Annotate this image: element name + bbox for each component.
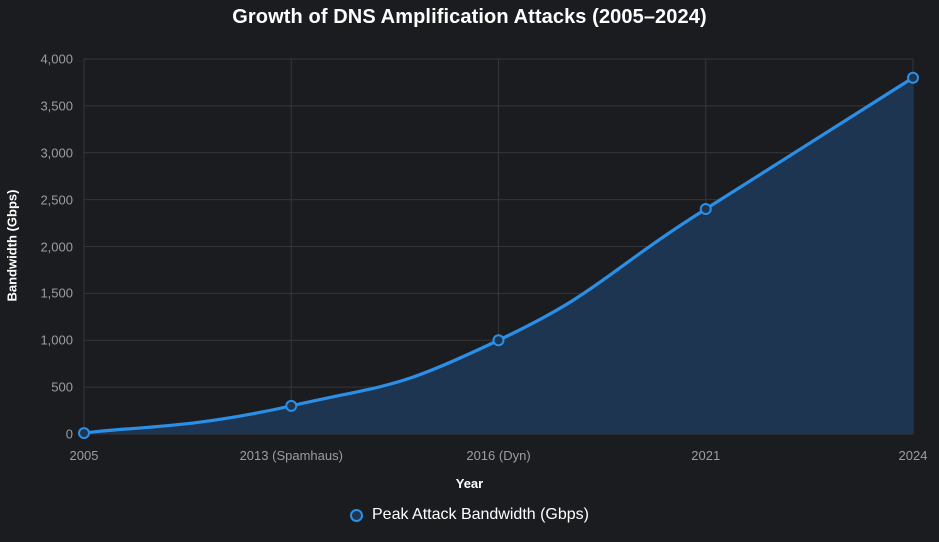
legend-item-label: Peak Attack Bandwidth (Gbps) — [372, 506, 589, 524]
data-point-marker[interactable] — [494, 335, 504, 345]
x-axis-tick-label: 2021 — [691, 448, 720, 463]
y-axis-tick-label: 1,000 — [0, 333, 73, 348]
data-point-marker[interactable] — [701, 204, 711, 214]
data-point-marker[interactable] — [908, 73, 918, 83]
y-axis-title: Bandwidth (Gbps) — [5, 176, 20, 316]
y-axis-tick-label: 0 — [0, 427, 73, 442]
data-point-marker[interactable] — [286, 401, 296, 411]
x-axis-tick-label: 2016 (Dyn) — [466, 448, 530, 463]
y-axis-tick-label: 3,000 — [0, 145, 73, 160]
data-point-marker[interactable] — [79, 428, 89, 438]
y-axis-tick-label: 3,500 — [0, 98, 73, 113]
x-axis-tick-label: 2024 — [899, 448, 928, 463]
x-axis-title: Year — [0, 476, 939, 491]
chart-legend: Peak Attack Bandwidth (Gbps) — [0, 506, 939, 524]
x-axis-tick-label: 2005 — [70, 448, 99, 463]
y-axis-tick-label: 500 — [0, 380, 73, 395]
chart-container: Growth of DNS Amplification Attacks (200… — [0, 0, 939, 542]
y-axis-tick-label: 4,000 — [0, 52, 73, 67]
legend-circle-open-icon — [350, 509, 363, 522]
x-axis-tick-label: 2013 (Spamhaus) — [240, 448, 343, 463]
